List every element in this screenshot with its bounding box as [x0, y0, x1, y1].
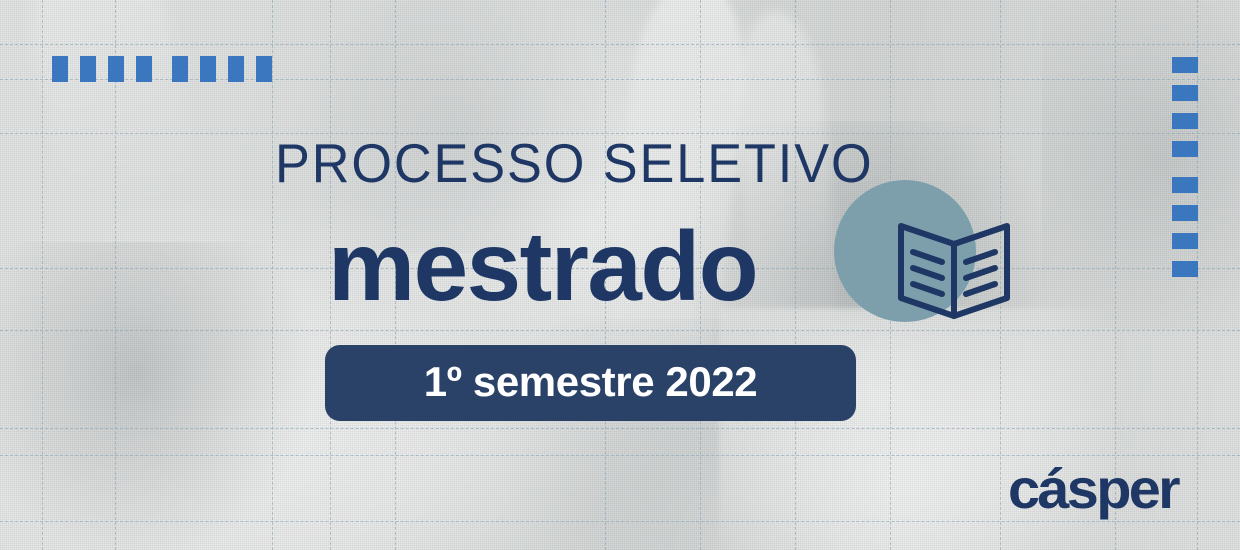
- decorative-mark-right: [1172, 261, 1198, 277]
- admissions-banner: PROCESSO SELETIVO mestrado 1º semestre 2…: [0, 0, 1240, 550]
- decorative-mark-right: [1172, 57, 1198, 73]
- program-name: mestrado: [328, 217, 757, 315]
- grid-line-vertical: [795, 0, 796, 550]
- decorative-mark-top: [108, 56, 124, 82]
- decorative-mark-top: [52, 56, 68, 82]
- decorative-mark-right: [1172, 113, 1198, 129]
- page-title: PROCESSO SELETIVO: [275, 136, 874, 191]
- grid-line-horizontal: [0, 44, 1240, 45]
- grid-line-horizontal: [0, 521, 1240, 522]
- decorative-mark-top: [172, 56, 188, 82]
- decorative-mark-top: [256, 56, 272, 82]
- grid-line-horizontal: [0, 428, 1240, 429]
- casper-logo: cásper: [1008, 456, 1178, 521]
- grid-line-horizontal: [0, 330, 1240, 331]
- open-book-icon: [893, 218, 1015, 322]
- semester-badge: 1º semestre 2022: [325, 345, 856, 421]
- grid-line-vertical: [272, 0, 273, 550]
- grid-line-vertical: [42, 0, 43, 550]
- decorative-mark-top: [80, 56, 96, 82]
- decorative-mark-right: [1172, 233, 1198, 249]
- decorative-mark-right: [1172, 141, 1198, 157]
- grid-line-vertical: [115, 0, 116, 550]
- decorative-mark-top: [200, 56, 216, 82]
- decorative-mark-top: [136, 56, 152, 82]
- decorative-mark-right: [1172, 85, 1198, 101]
- decorative-mark-right: [1172, 205, 1198, 221]
- semester-badge-label: 1º semestre 2022: [424, 358, 758, 406]
- decorative-mark-top: [228, 56, 244, 82]
- decorative-mark-right: [1172, 177, 1198, 193]
